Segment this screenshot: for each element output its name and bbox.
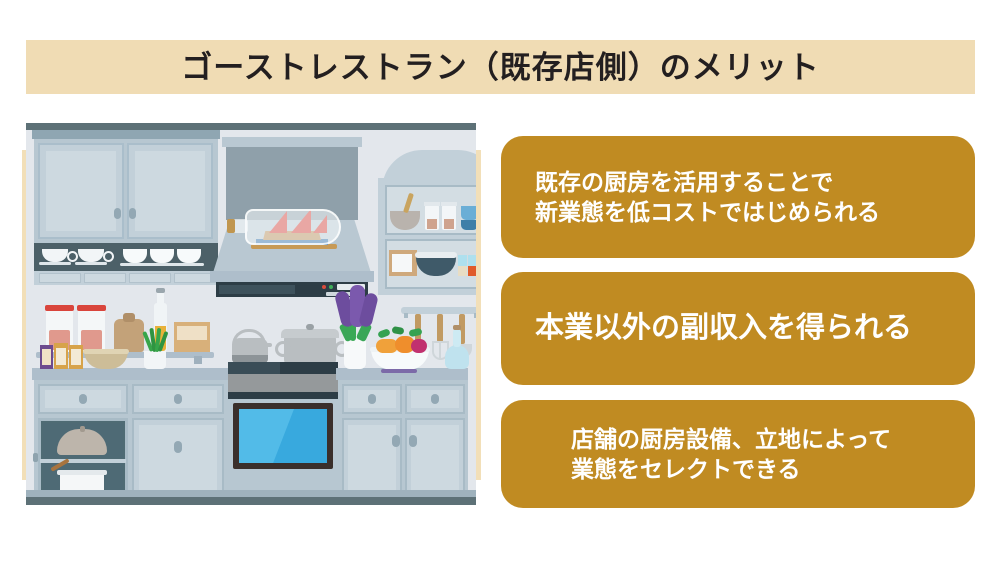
oil-bottle-cap <box>156 288 165 293</box>
blue-bottle-cork <box>453 325 461 330</box>
utensil-rail <box>401 307 476 314</box>
title-banner: ゴーストレストラン（既存店側）のメリット <box>26 40 975 94</box>
benefit-callout-1[interactable]: 既存の厨房を活用することで 新業態を低コストではじめられる <box>501 136 975 258</box>
shelf-bracket <box>194 356 202 364</box>
stock-pot-lid <box>281 329 339 338</box>
blue-bottle-neck <box>453 329 461 347</box>
ship-bottle-glass <box>245 209 341 245</box>
right-accent-strip <box>476 150 481 480</box>
saucer <box>147 263 177 266</box>
upper-cabinet-knob-left[interactable] <box>114 208 121 219</box>
upper-cabinet-crown <box>32 130 220 139</box>
benefit-callout-3-text: 店舗の厨房設備、立地によって 業態をセレクトできる <box>501 424 975 485</box>
cup-handle <box>67 251 78 262</box>
benefit-callout-3[interactable]: 店舗の厨房設備、立地によって 業態をセレクトできる <box>501 400 975 508</box>
cabinet-handle[interactable] <box>33 453 38 462</box>
blue-bottle-body <box>445 345 469 369</box>
spice-jar-lid <box>441 202 457 206</box>
blue-mug <box>461 206 476 220</box>
flour-sack-top <box>123 313 135 322</box>
ship-bottle-cork <box>227 219 235 233</box>
flour-sack <box>114 319 144 352</box>
jam-jar-lid <box>77 305 106 311</box>
cooktop-left-zone <box>228 362 280 374</box>
stock-pot <box>284 336 336 364</box>
stock-pot-lid-knob <box>306 324 314 330</box>
stock-pot-handle-left <box>275 341 291 357</box>
mini-drawer[interactable] <box>84 273 126 283</box>
ceiling-trim <box>26 123 476 130</box>
saucer <box>174 263 204 266</box>
jam-jar-contents <box>81 330 102 350</box>
base-drawer-knob[interactable] <box>431 394 439 404</box>
oil-bottle-neck <box>157 291 164 305</box>
saucer <box>75 262 107 265</box>
range-hood-top <box>222 137 362 147</box>
blue-mug <box>461 220 476 230</box>
wooden-bowl-rim <box>83 349 129 354</box>
base-cabinet-knob[interactable] <box>409 435 417 447</box>
spice-jar-small-contents <box>458 266 467 276</box>
benefit-callout-1-text: 既存の厨房を活用することで 新業態を低コストではじめられる <box>501 167 975 228</box>
base-cabinet-door-panel <box>348 425 396 493</box>
fruit-bowl-base <box>381 369 417 373</box>
saucer <box>120 263 150 266</box>
whisk-handle <box>437 314 443 342</box>
saucer <box>39 262 71 265</box>
whisk-wire <box>439 341 441 360</box>
upper-cabinet-door-right-panel <box>135 151 205 231</box>
upper-cabinet-door-left-panel <box>46 151 116 231</box>
benefit-callout-2-text: 本業以外の副収入を得られる <box>501 309 975 347</box>
spice-jar-lid <box>424 202 440 206</box>
canister-label <box>42 349 51 365</box>
benefit-callout-2[interactable]: 本業以外の副収入を得られる <box>501 272 975 385</box>
plant-pot <box>144 351 166 369</box>
cup-handle <box>103 251 114 262</box>
kettle-spout <box>266 343 272 347</box>
shelf-box-label <box>392 254 412 272</box>
hood-indicator-light-green <box>329 285 333 289</box>
rail-bracket <box>404 313 408 318</box>
pantry-box-label <box>177 326 207 340</box>
upper-cabinet-knob-right[interactable] <box>129 208 136 219</box>
page-title: ゴーストレストラン（既存店側）のメリット <box>181 52 819 83</box>
covered-dish-knob <box>80 426 85 432</box>
range-hood-lip <box>210 271 374 282</box>
base-cabinet-knob[interactable] <box>392 435 400 447</box>
beet-fruit <box>411 339 427 353</box>
kitchen-interior-illustration <box>26 123 476 505</box>
canister-label <box>71 349 81 365</box>
base-cabinet-knob[interactable] <box>174 441 182 453</box>
stock-pot-small-rim <box>57 470 107 475</box>
spice-jar-contents <box>444 219 454 229</box>
oven-handle-bar[interactable] <box>228 392 338 399</box>
mini-drawer[interactable] <box>129 273 171 283</box>
base-drawer-knob[interactable] <box>368 394 376 404</box>
slide-root: ゴーストレストラン（既存店側）のメリット <box>0 0 1000 561</box>
base-drawer-knob[interactable] <box>79 394 87 404</box>
floor-baseboard <box>26 497 476 505</box>
canister-label <box>56 348 66 365</box>
base-drawer-knob[interactable] <box>174 394 182 404</box>
spice-jar-contents <box>427 219 437 229</box>
toe-kick <box>26 490 476 497</box>
mini-drawer[interactable] <box>39 273 81 283</box>
hood-indicator-light-red <box>322 285 326 289</box>
range-hood-vent-panel <box>219 285 295 294</box>
base-cabinet-door-panel <box>411 425 459 493</box>
jam-jar-lid <box>45 305 74 311</box>
oven-control-panel[interactable] <box>228 374 338 392</box>
rail-bracket <box>474 313 476 318</box>
counter-left <box>32 368 228 380</box>
spice-jar-small-contents <box>468 266 476 276</box>
mixing-bowl-rim <box>415 252 457 258</box>
base-cabinet-door-panel <box>139 425 217 493</box>
